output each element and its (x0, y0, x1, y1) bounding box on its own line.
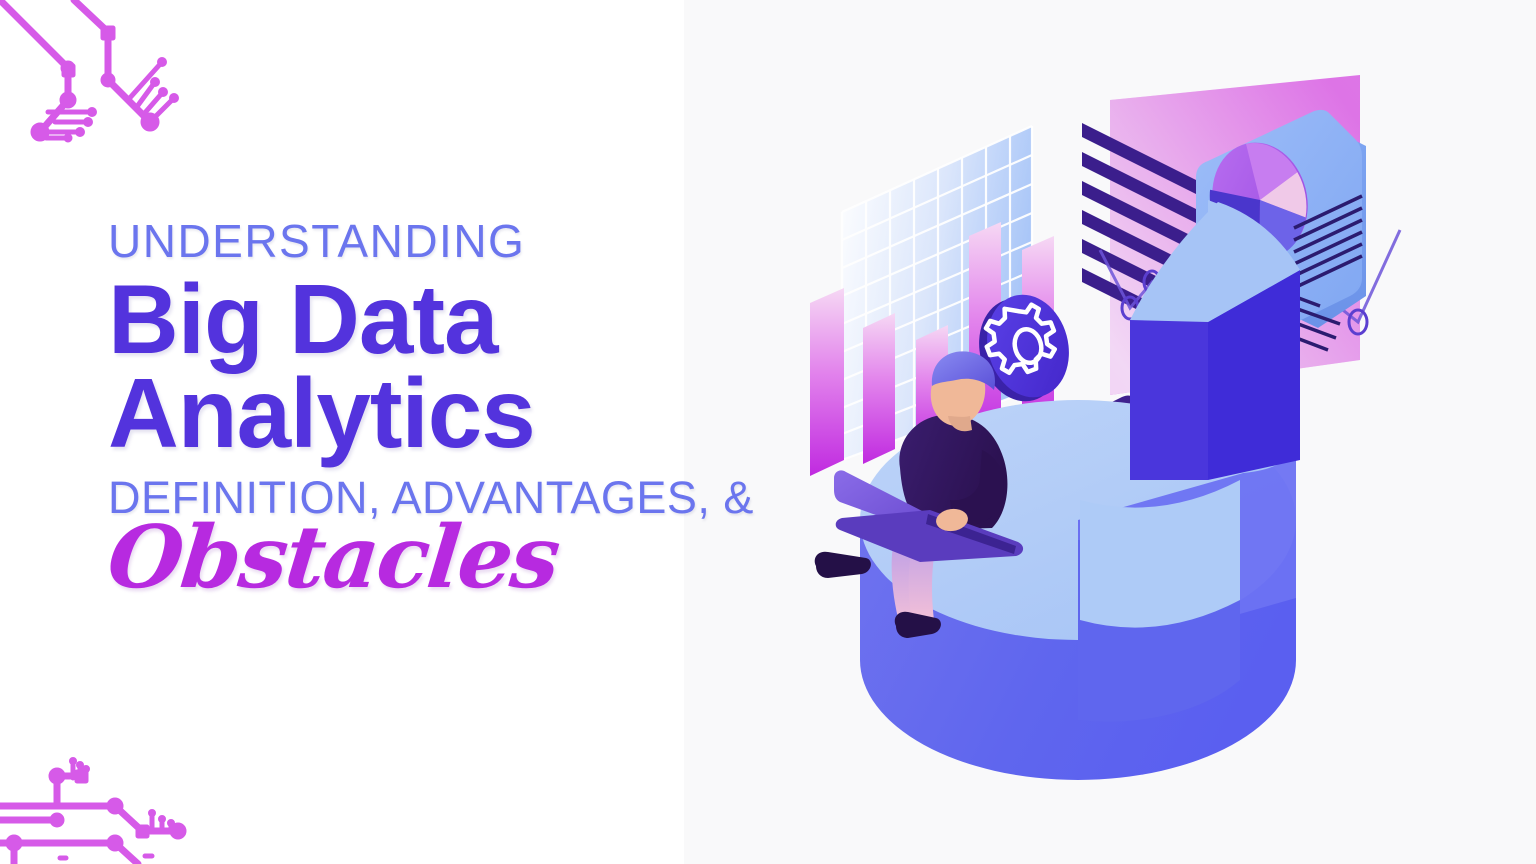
eyebrow-text: UNDERSTANDING (108, 218, 668, 264)
page-title: Big Data Analytics (108, 272, 668, 460)
script-accent-word: Obstacles (104, 515, 677, 601)
cylinder-wedge-lower (1078, 480, 1240, 722)
title-line-2: Analytics (108, 366, 668, 460)
circuit-trace-top-left (0, 0, 230, 170)
banner-root: UNDERSTANDING Big Data Analytics DEFINIT… (0, 0, 1536, 864)
isometric-illustration (800, 60, 1500, 840)
headline-block: UNDERSTANDING Big Data Analytics DEFINIT… (108, 218, 668, 601)
circuit-trace-bottom-left (0, 748, 250, 864)
